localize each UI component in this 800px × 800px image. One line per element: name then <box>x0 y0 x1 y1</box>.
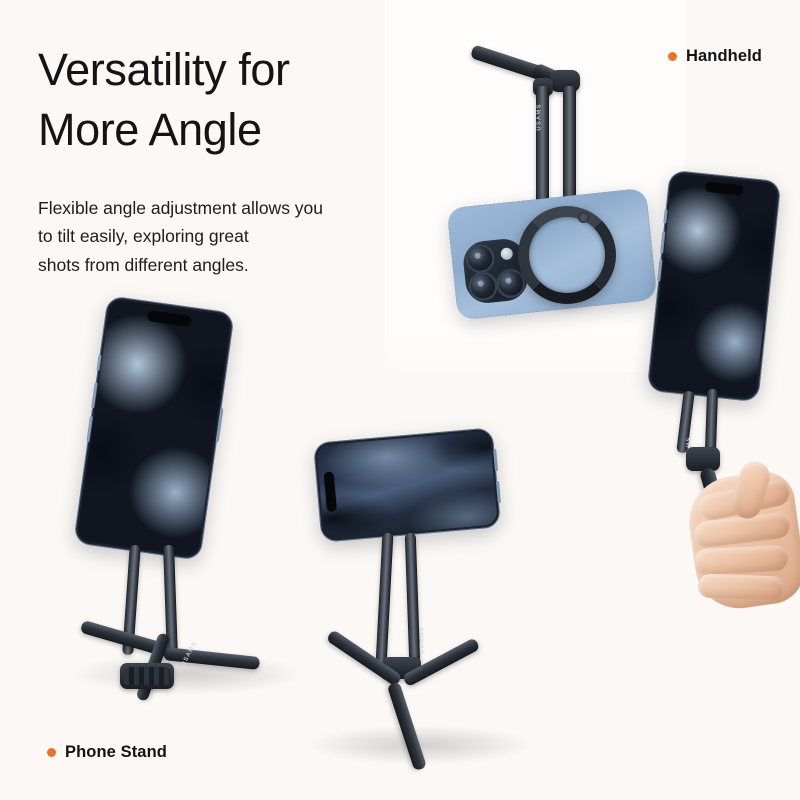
caption-handheld: Handheld <box>668 47 762 66</box>
camera-lens-2 <box>470 273 496 299</box>
magsafe-ring-grip <box>518 206 616 304</box>
grip-shaft-right <box>705 389 718 453</box>
phone-screen <box>316 431 498 540</box>
stand-shaft-right <box>405 533 421 663</box>
marketing-canvas: Versatility for More Angle Flexible angl… <box>0 0 800 800</box>
bullet-dot-icon <box>47 748 56 757</box>
description-line-1: Flexible angle adjustment allows you <box>38 194 398 222</box>
stand-base-hinge-teeth <box>124 667 170 685</box>
phone-screen <box>650 173 778 399</box>
power-button <box>496 481 501 503</box>
caption-handheld-label: Handheld <box>686 47 762 66</box>
camera-lens-1 <box>467 245 493 271</box>
page-title: Versatility for More Angle <box>38 40 388 160</box>
phone-screen <box>77 299 232 558</box>
grip-hinge <box>686 447 720 471</box>
headline-line-1: Versatility for <box>38 44 290 95</box>
hand-finger-ring <box>693 545 788 576</box>
wallpaper-blue-titanium <box>650 173 778 399</box>
product-photo-handheld-right: USAMS <box>640 175 800 620</box>
brand-engraving: USAMS <box>420 626 426 653</box>
caption-phone-stand-label: Phone Stand <box>65 743 167 762</box>
phone-device-left <box>73 295 235 560</box>
camera-lens-3 <box>498 270 524 296</box>
description-text: Flexible angle adjustment allows you to … <box>38 194 398 279</box>
brand-engraving: USAMS <box>537 103 543 130</box>
description-line-3: shots from different angles. <box>38 251 398 279</box>
camera-flash <box>500 247 513 260</box>
product-photo-phone-stand-left: USAMS <box>60 295 300 715</box>
description-line-2: to tilt easily, exploring great <box>38 222 398 250</box>
phone-device-center <box>313 427 501 542</box>
stand-shaft-left <box>376 533 394 665</box>
wallpaper-dark-navy <box>316 431 498 540</box>
phone-device-right <box>647 170 782 402</box>
wallpaper-blue-titanium <box>77 299 232 558</box>
volume-button <box>493 449 498 471</box>
caption-phone-stand: Phone Stand <box>47 743 167 762</box>
hand-finger-pinky <box>698 574 785 601</box>
headline-line-2: More Angle <box>38 100 388 160</box>
product-photo-phone-stand-center: USAMS <box>305 425 535 765</box>
ring-release-knob <box>578 212 589 223</box>
